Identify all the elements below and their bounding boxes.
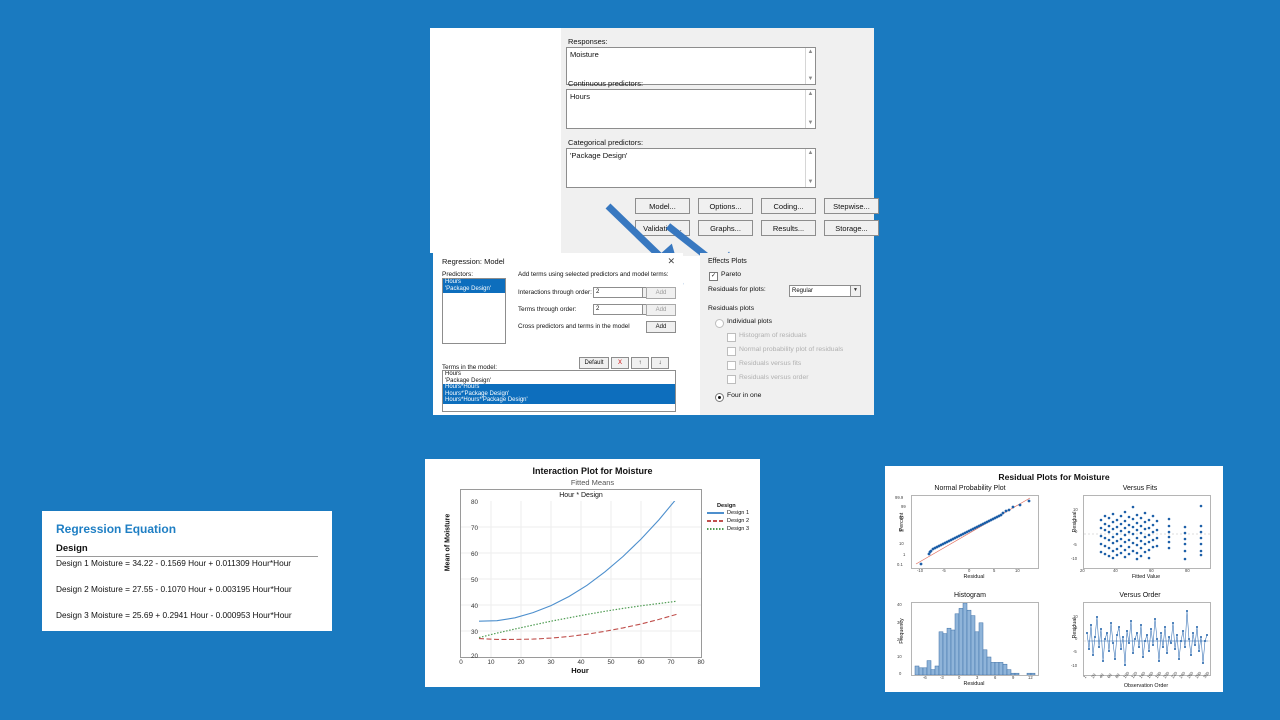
model-dialog-title: Regression: Model [442, 257, 505, 266]
chevron-up-icon[interactable]: ▲ [806, 90, 815, 99]
residuals-versus-fits-checkbox[interactable] [727, 361, 736, 370]
four-in-one-radio[interactable] [715, 393, 724, 402]
legend-label: Design 2 [727, 518, 749, 524]
normal-probability-plot-title: Normal Probability Plot [895, 485, 1045, 492]
continuous-predictors-listbox[interactable]: Hours ▲ ▼ [566, 89, 816, 129]
add-terms-label: Add terms using selected predictors and … [518, 271, 669, 278]
x-tick: 0 [958, 675, 960, 680]
equation-line: Design 2 Moisture = 27.55 - 0.1070 Hour … [56, 584, 292, 594]
responses-value: Moisture [567, 48, 815, 61]
x-tick: 5 [993, 568, 995, 573]
histogram-ylabel: Frequency [899, 600, 905, 662]
categorical-predictors-scrollbar[interactable]: ▲ ▼ [805, 149, 815, 187]
responses-label: Responses: [568, 37, 816, 46]
chevron-up-icon[interactable]: ▲ [806, 149, 815, 158]
categorical-predictors-listbox[interactable]: 'Package Design' ▲ ▼ [566, 148, 816, 188]
storage-button[interactable]: Storage... [824, 220, 879, 236]
delete-term-icon: X [618, 360, 622, 366]
options-button[interactable]: Options... [698, 198, 753, 214]
y-tick: 70 [458, 525, 478, 532]
x-tick: 10 [1015, 568, 1020, 573]
model-dialog: Regression: Model ✕ Predictors: Hours 'P… [430, 253, 683, 415]
interaction-plot-svg [461, 501, 701, 657]
x-tick: 30 [544, 659, 558, 666]
versus-order-ylabel: Residual [1072, 600, 1078, 656]
terms-order-label: Terms through order: [518, 306, 576, 313]
divider [56, 556, 318, 557]
effects-plots-heading: Effects Plots [708, 258, 747, 265]
term-row[interactable]: Hours*Hours*'Package Design' [443, 397, 675, 404]
individual-plots-label: Individual plots [727, 318, 772, 325]
y-tick: 1 [903, 552, 905, 557]
continuous-predictors-value: Hours [567, 90, 815, 103]
x-tick: 80 [1114, 672, 1121, 679]
residual-plots-title: Residual Plots for Moisture [885, 472, 1223, 482]
close-icon[interactable]: ✕ [667, 256, 675, 267]
delete-term-button[interactable]: X [611, 357, 629, 369]
legend-swatch-design-3 [707, 528, 724, 530]
x-tick: 80 [1185, 568, 1190, 573]
x-tick: 50 [604, 659, 618, 666]
npp-xlabel: Residual [911, 574, 1037, 580]
chevron-down-icon[interactable]: ▼ [806, 119, 815, 128]
npp-svg [912, 496, 1038, 568]
add-interactions-label: Add [656, 290, 667, 296]
add-interactions-button[interactable]: Add [646, 287, 676, 299]
regression-equation-title: Regression Equation [56, 522, 176, 536]
chevron-down-icon[interactable]: ▼ [850, 286, 860, 296]
interactions-order-combo[interactable]: 2 ▼ [593, 287, 653, 298]
chevron-down-icon[interactable]: ▼ [806, 178, 815, 187]
x-tick: 80 [694, 659, 708, 666]
y-tick: 0 [899, 671, 901, 676]
series-design-2 [479, 614, 677, 639]
add-terms-order-button[interactable]: Add [646, 304, 676, 316]
continuous-predictors-label: Continuous predictors: [568, 79, 816, 88]
effects-plots-panel: Effects Plots ✓ Pareto Residuals for plo… [700, 253, 874, 418]
versus-fits-ylabel: Residual [1072, 494, 1078, 550]
y-tick: 40 [458, 603, 478, 610]
cross-predictors-label: Cross predictors and terms in the model [518, 323, 630, 330]
versus-order-svg [1084, 603, 1210, 675]
x-tick: 40 [1113, 568, 1118, 573]
categorical-predictors-label: Categorical predictors: [568, 138, 816, 147]
four-in-one-label: Four in one [727, 392, 761, 399]
interactions-order-label: Interactions through order: [518, 289, 592, 296]
histogram-of-residuals-checkbox[interactable] [727, 333, 736, 342]
predictor-item[interactable]: 'Package Design' [443, 286, 505, 293]
radio-dot [718, 396, 721, 399]
y-tick: 30 [458, 629, 478, 636]
histogram-svg [912, 603, 1038, 675]
series-design-1 [479, 501, 677, 621]
histogram-xlabel: Residual [911, 681, 1037, 687]
residuals-versus-order-checkbox[interactable] [727, 375, 736, 384]
term-row[interactable]: Hours*'Package Design' [443, 391, 675, 398]
versus-order-title: Versus Order [1070, 592, 1210, 599]
x-tick: -6 [923, 675, 927, 680]
default-button-label: Default [584, 360, 603, 366]
y-tick: 50 [458, 577, 478, 584]
versus-fits-title: Versus Fits [1070, 485, 1210, 492]
x-tick: 0 [454, 659, 468, 666]
x-tick: 9 [1012, 675, 1014, 680]
residuals-versus-order-label: Residuals versus order [739, 374, 809, 381]
interaction-plot-ylabel: Mean of Moisture [445, 483, 452, 603]
x-tick: 60 [1149, 568, 1154, 573]
versus-fits-xlabel: Fitted Value [1083, 574, 1209, 580]
equation-line: Design 3 Moisture = 25.69 + 0.2941 Hour … [56, 610, 292, 620]
interaction-plot-xlabel: Hour [460, 666, 700, 675]
interaction-plot-legend: Design Design 1 Design 2 Design 3 [707, 503, 749, 533]
histogram-axes [911, 602, 1039, 676]
move-term-down-button[interactable]: ↓ [651, 357, 669, 369]
npp-ylabel: Percent [899, 492, 905, 552]
regression-equation-card: Regression Equation Design Design 1 Mois… [42, 511, 332, 631]
residuals-versus-fits-label: Residuals versus fits [739, 360, 801, 367]
x-tick: 3 [976, 675, 978, 680]
x-tick: 20 [1080, 568, 1085, 573]
x-tick: 12 [1028, 675, 1033, 680]
x-tick: 60 [634, 659, 648, 666]
residuals-plots-heading: Residuals plots [708, 305, 754, 312]
coding-button[interactable]: Coding... [761, 198, 816, 214]
x-tick: 40 [1098, 672, 1105, 679]
y-tick: 0.1 [897, 562, 903, 567]
versus-order-xlabel: Observation Order [1083, 683, 1209, 689]
term-row[interactable]: 'Package Design' [443, 378, 675, 385]
pareto-checkbox[interactable]: ✓ [709, 272, 718, 281]
residuals-for-plots-combo[interactable]: Regular ▼ [789, 285, 861, 297]
coding-button-label: Coding... [773, 202, 803, 211]
categorical-predictors-value: 'Package Design' [567, 149, 815, 162]
legend-swatch-design-1 [707, 512, 724, 514]
x-tick: 0 [968, 568, 970, 573]
legend-label: Design 3 [727, 526, 749, 532]
y-tick: 60 [458, 551, 478, 558]
normal-probability-plot-checkbox[interactable] [727, 347, 736, 356]
results-button-label: Results... [773, 224, 804, 233]
series-design-3 [479, 601, 677, 637]
versus-fits-axes [1083, 495, 1211, 569]
x-tick: -5 [942, 568, 946, 573]
histogram-title: Histogram [895, 592, 1045, 599]
versus-order-axes [1083, 602, 1211, 676]
storage-button-label: Storage... [835, 224, 868, 233]
y-tick: 80 [458, 499, 478, 506]
continuous-predictors-scrollbar[interactable]: ▲ ▼ [805, 90, 815, 128]
term-row[interactable]: Hours*Hours [443, 384, 675, 391]
histogram-of-residuals-label: Histogram of residuals [739, 332, 807, 339]
residual-plots-panel: Residual Plots for Moisture Normal Proba… [885, 466, 1227, 696]
interaction-plot-axes [460, 501, 702, 658]
stepwise-button[interactable]: Stepwise... [824, 198, 879, 214]
options-button-label: Options... [709, 202, 741, 211]
interaction-plot-subtitle: Fitted Means [425, 478, 760, 487]
residuals-for-plots-label: Residuals for plots: [708, 286, 766, 293]
x-tick: -10 [917, 568, 923, 573]
normal-probability-plot-axes [911, 495, 1039, 569]
normal-probability-plot-label: Normal probability plot of residuals [739, 346, 843, 353]
chevron-up-icon[interactable]: ▲ [806, 48, 815, 57]
legend-label: Design 1 [727, 510, 749, 516]
legend-item[interactable]: Design 2 [707, 517, 749, 525]
x-tick: 20 [1090, 672, 1097, 679]
pareto-label: Pareto [721, 271, 741, 278]
stepwise-button-label: Stepwise... [833, 202, 870, 211]
y-tick: -10 [1071, 663, 1077, 668]
terms-order-combo[interactable]: 2 ▼ [593, 304, 653, 315]
regression-equation-group-header: Design [56, 543, 88, 554]
add-cross-button[interactable]: Add [646, 321, 676, 333]
legend-item[interactable]: Design 3 [707, 525, 749, 533]
individual-plots-radio[interactable] [715, 319, 724, 328]
x-tick: 70 [664, 659, 678, 666]
legend-item[interactable]: Design 1 [707, 509, 749, 517]
predictors-label: Predictors: [442, 271, 473, 278]
add-cross-label: Add [656, 324, 667, 330]
x-tick: 6 [994, 675, 996, 680]
add-terms-order-label: Add [656, 307, 667, 313]
predictors-listbox[interactable]: Hours 'Package Design' [442, 278, 506, 344]
legend-swatch-design-2 [707, 520, 724, 522]
x-tick: 60 [1106, 672, 1113, 679]
results-button[interactable]: Results... [761, 220, 816, 236]
x-tick: 20 [514, 659, 528, 666]
interaction-plot-panel: Interaction Plot for Moisture Fitted Mea… [425, 456, 760, 690]
interaction-plot-title: Interaction Plot for Moisture [425, 466, 760, 476]
x-tick: 40 [574, 659, 588, 666]
arrow-up-icon: ↑ [639, 360, 642, 366]
move-term-up-button[interactable]: ↑ [631, 357, 649, 369]
default-button[interactable]: Default [579, 357, 609, 369]
versus-fits-svg [1084, 496, 1210, 568]
y-tick: -10 [1071, 556, 1077, 561]
terms-in-model-listbox[interactable]: Hours 'Package Design' Hours*Hours Hours… [442, 370, 676, 412]
x-tick: -3 [940, 675, 944, 680]
x-tick: 10 [484, 659, 498, 666]
arrow-down-icon: ↓ [659, 360, 662, 366]
term-row[interactable]: Hours [443, 371, 675, 378]
predictor-item[interactable]: Hours [443, 279, 505, 286]
equation-line: Design 1 Moisture = 34.22 - 0.1569 Hour … [56, 558, 291, 568]
